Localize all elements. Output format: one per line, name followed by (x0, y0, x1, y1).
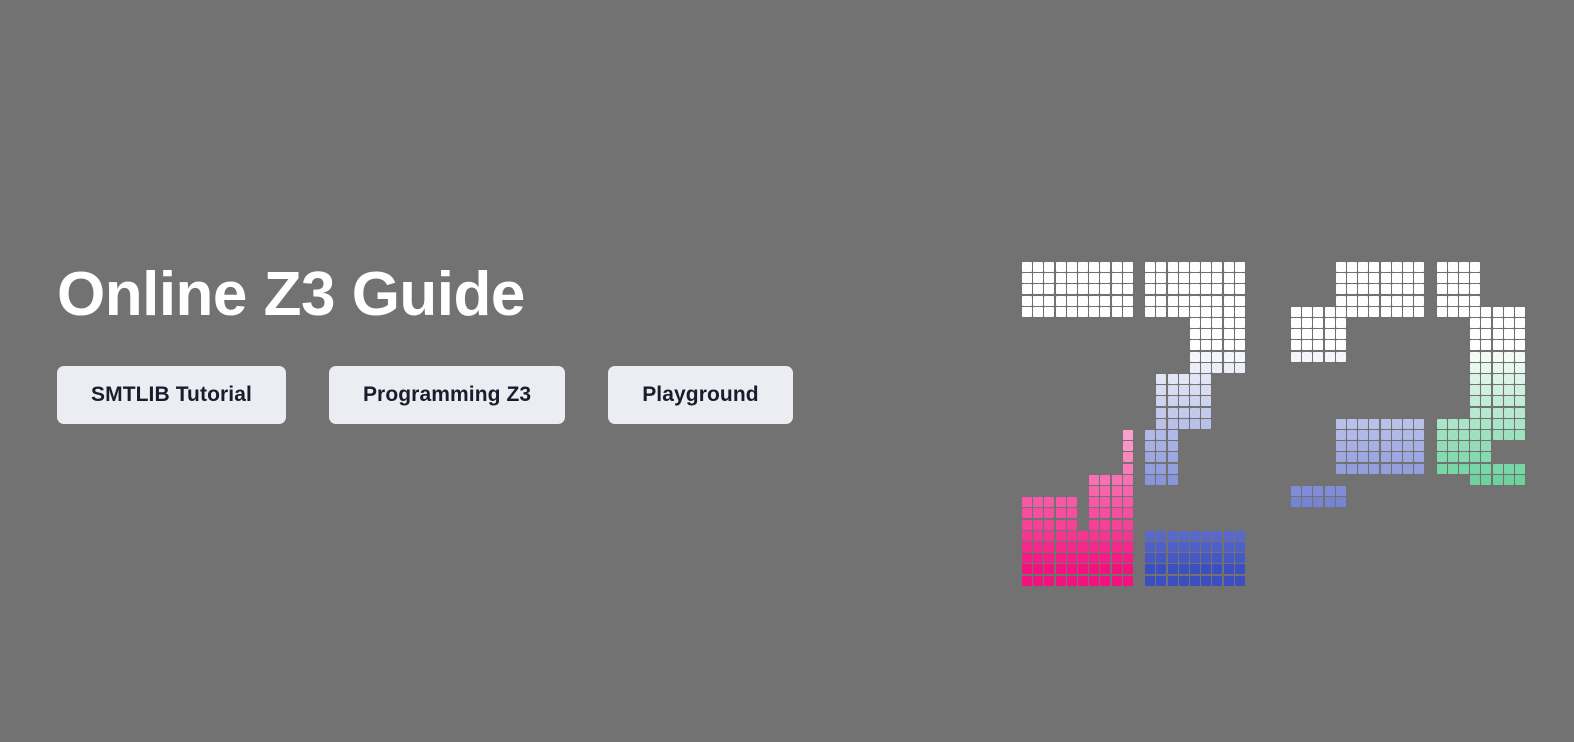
logo-cell (1470, 419, 1480, 429)
logo-cell (1168, 576, 1178, 586)
logo-cell (1156, 408, 1166, 418)
logo-cell (1425, 576, 1435, 586)
logo-cell (1425, 307, 1435, 317)
logo-cell (1291, 486, 1301, 496)
logo-cell (1044, 520, 1054, 530)
logo-cell (1134, 262, 1144, 272)
logo-cell (1134, 441, 1144, 451)
logo-cell (1145, 296, 1155, 306)
logo-cell (1381, 531, 1391, 541)
logo-cell (1459, 531, 1469, 541)
logo-cell (1459, 553, 1469, 563)
logo-cell (1134, 486, 1144, 496)
logo-cell (1078, 564, 1088, 574)
logo-cell (1022, 262, 1032, 272)
logo-cell (1235, 273, 1245, 283)
logo-cell (1100, 576, 1110, 586)
logo-cell (1201, 542, 1211, 552)
logo-cell (1448, 564, 1458, 574)
logo-cell (1504, 475, 1514, 485)
logo-cell (1336, 352, 1346, 362)
playground-button[interactable]: Playground (608, 366, 793, 424)
logo-cell (1123, 464, 1133, 474)
page-title: Online Z3 Guide (57, 256, 977, 334)
logo-cell (1515, 430, 1525, 440)
logo-cell (1033, 307, 1043, 317)
logo-cell (1033, 520, 1043, 530)
logo-cell (1302, 520, 1312, 530)
logo-cell (1190, 307, 1200, 317)
logo-cell (1381, 542, 1391, 552)
logo-cell (1347, 553, 1357, 563)
logo-cell (1470, 452, 1480, 462)
logo-cell (1504, 486, 1514, 496)
logo-cell (1156, 464, 1166, 474)
logo-cell (1145, 284, 1155, 294)
logo-cell (1067, 296, 1077, 306)
logo-cell (1515, 329, 1525, 339)
logo-cell (1168, 408, 1178, 418)
logo-cell (1470, 307, 1480, 317)
logo-cell (1325, 497, 1335, 507)
logo-cell (1481, 576, 1491, 586)
logo-cell (1403, 542, 1413, 552)
logo-cell (1403, 564, 1413, 574)
logo-cell (1123, 307, 1133, 317)
logo-cell (1347, 464, 1357, 474)
logo-cell (1369, 273, 1379, 283)
logo-cell (1325, 340, 1335, 350)
logo-cell (1325, 329, 1335, 339)
logo-cell (1100, 296, 1110, 306)
logo-cell (1325, 352, 1335, 362)
logo-cell (1403, 531, 1413, 541)
logo-cell (1112, 284, 1122, 294)
logo-cell (1201, 307, 1211, 317)
logo-cell (1437, 464, 1447, 474)
logo-cell (1403, 307, 1413, 317)
logo-cell (1179, 408, 1189, 418)
logo-cell (1448, 419, 1458, 429)
logo-cell (1022, 564, 1032, 574)
logo-cell (1179, 273, 1189, 283)
logo-cell (1190, 352, 1200, 362)
logo-cell (1134, 576, 1144, 586)
logo-cell (1481, 542, 1491, 552)
logo-cell (1515, 520, 1525, 530)
logo-cell (1156, 385, 1166, 395)
logo-cell (1414, 531, 1424, 541)
logo-cell (1201, 531, 1211, 541)
logo-cell (1481, 508, 1491, 518)
logo-cell (1425, 553, 1435, 563)
logo-cell (1381, 464, 1391, 474)
logo-cell (1504, 352, 1514, 362)
logo-cell (1470, 475, 1480, 485)
logo-cell (1504, 329, 1514, 339)
logo-cell (1022, 508, 1032, 518)
logo-cell (1056, 284, 1066, 294)
logo-cell (1470, 340, 1480, 350)
logo-cell (1224, 262, 1234, 272)
logo-cell (1201, 553, 1211, 563)
logo-cell (1212, 273, 1222, 283)
logo-cell (1392, 284, 1402, 294)
logo-cell (1156, 452, 1166, 462)
logo-cell (1358, 576, 1368, 586)
logo-cell (1459, 296, 1469, 306)
logo-cell (1235, 296, 1245, 306)
logo-cell (1100, 307, 1110, 317)
logo-cell (1448, 273, 1458, 283)
logo-cell (1112, 520, 1122, 530)
logo-cell (1112, 486, 1122, 496)
logo-cell (1168, 553, 1178, 563)
logo-cell (1056, 576, 1066, 586)
logo-cell (1291, 340, 1301, 350)
logo-cell (1100, 553, 1110, 563)
logo-cell (1470, 553, 1480, 563)
logo-cell (1044, 576, 1054, 586)
logo-cell (1392, 452, 1402, 462)
logo-cell (1212, 564, 1222, 574)
logo-cell (1212, 553, 1222, 563)
logo-cell (1145, 475, 1155, 485)
logo-cell (1425, 531, 1435, 541)
logo-cell (1224, 576, 1234, 586)
logo-cell (1403, 419, 1413, 429)
logo-cell (1168, 464, 1178, 474)
logo-cell (1212, 340, 1222, 350)
logo-cell (1414, 284, 1424, 294)
logo-cell (1302, 508, 1312, 518)
logo-cell (1100, 284, 1110, 294)
logo-cell (1123, 497, 1133, 507)
logo-cell (1235, 531, 1245, 541)
logo-cell (1168, 307, 1178, 317)
logo-cell (1347, 307, 1357, 317)
logo-cell (1179, 296, 1189, 306)
logo-cell (1481, 475, 1491, 485)
logo-cell (1134, 542, 1144, 552)
logo-cell (1414, 576, 1424, 586)
logo-cell (1156, 441, 1166, 451)
logo-cell (1033, 576, 1043, 586)
logo-cell (1358, 419, 1368, 429)
logo-cell (1123, 531, 1133, 541)
logo-cell (1302, 340, 1312, 350)
logo-cell (1179, 542, 1189, 552)
logo-cell (1493, 318, 1503, 328)
logo-cell (1347, 576, 1357, 586)
logo-cell (1123, 430, 1133, 440)
logo-cell (1437, 273, 1447, 283)
logo-cell (1190, 262, 1200, 272)
logo-cell (1493, 419, 1503, 429)
logo-cell (1459, 542, 1469, 552)
logo-cell (1190, 284, 1200, 294)
logo-cell (1325, 318, 1335, 328)
logo-cell (1437, 576, 1447, 586)
logo-cell (1134, 307, 1144, 317)
logo-cell (1022, 576, 1032, 586)
logo-cell (1515, 486, 1525, 496)
logo-cell (1123, 284, 1133, 294)
logo-cell (1459, 452, 1469, 462)
logo-cell (1089, 486, 1099, 496)
logo-cell (1358, 441, 1368, 451)
logo-cell (1481, 352, 1491, 362)
logo-cell (1425, 464, 1435, 474)
logo-cell (1470, 576, 1480, 586)
logo-cell (1470, 296, 1480, 306)
logo-cell (1100, 542, 1110, 552)
logo-cell (1067, 497, 1077, 507)
logo-cell (1448, 430, 1458, 440)
logo-cell (1168, 542, 1178, 552)
logo-cell (1403, 284, 1413, 294)
logo-cell (1504, 430, 1514, 440)
smtlib-tutorial-button[interactable]: SMTLIB Tutorial (57, 366, 286, 424)
logo-cell (1392, 273, 1402, 283)
logo-cell (1179, 307, 1189, 317)
z3-logo (1022, 262, 1522, 588)
logo-cell (1336, 564, 1346, 574)
logo-cell (1179, 419, 1189, 429)
logo-cell (1336, 262, 1346, 272)
logo-cell (1336, 296, 1346, 306)
logo-cell (1381, 296, 1391, 306)
logo-cell (1235, 284, 1245, 294)
logo-cell (1358, 273, 1368, 283)
logo-cell (1044, 564, 1054, 574)
logo-cell (1470, 273, 1480, 283)
logo-cell (1448, 284, 1458, 294)
logo-cell (1224, 307, 1234, 317)
logo-cell (1033, 262, 1043, 272)
logo-cell (1112, 508, 1122, 518)
logo-cell (1168, 273, 1178, 283)
logo-cell (1493, 475, 1503, 485)
logo-cell (1156, 307, 1166, 317)
logo-cell (1134, 508, 1144, 518)
logo-cell (1078, 542, 1088, 552)
logo-cell (1325, 486, 1335, 496)
logo-cell (1414, 430, 1424, 440)
logo-cell (1291, 329, 1301, 339)
logo-cell (1056, 520, 1066, 530)
logo-cell (1336, 307, 1346, 317)
logo-cell (1437, 531, 1447, 541)
logo-cell (1313, 318, 1323, 328)
logo-cell (1056, 508, 1066, 518)
logo-cell (1212, 262, 1222, 272)
logo-cell (1381, 452, 1391, 462)
logo-cell (1156, 262, 1166, 272)
logo-cell (1168, 564, 1178, 574)
logo-cell (1481, 464, 1491, 474)
logo-cell (1179, 553, 1189, 563)
logo-cell (1145, 441, 1155, 451)
logo-cell (1201, 576, 1211, 586)
logo-cell (1358, 452, 1368, 462)
logo-cell (1224, 340, 1234, 350)
logo-cell (1358, 564, 1368, 574)
logo-cell (1089, 307, 1099, 317)
logo-cell (1481, 430, 1491, 440)
logo-cell (1425, 419, 1435, 429)
logo-cell (1134, 464, 1144, 474)
logo-cell (1414, 262, 1424, 272)
logo-cell (1302, 486, 1312, 496)
logo-cell (1336, 497, 1346, 507)
logo-cell (1134, 531, 1144, 541)
logo-cell (1089, 296, 1099, 306)
programming-z3-button[interactable]: Programming Z3 (329, 366, 565, 424)
logo-cell (1190, 273, 1200, 283)
logo-cell (1470, 542, 1480, 552)
logo-cell (1201, 385, 1211, 395)
logo-cell (1448, 296, 1458, 306)
logo-cell (1302, 497, 1312, 507)
logo-cell (1100, 520, 1110, 530)
logo-cell (1201, 284, 1211, 294)
logo-cell (1112, 553, 1122, 563)
logo-cell (1437, 307, 1447, 317)
logo-cell (1437, 296, 1447, 306)
logo-cell (1044, 262, 1054, 272)
logo-cell (1336, 318, 1346, 328)
logo-cell (1369, 531, 1379, 541)
logo-cell (1044, 531, 1054, 541)
logo-cell (1392, 542, 1402, 552)
logo-cell (1459, 284, 1469, 294)
logo-cell (1336, 452, 1346, 462)
logo-cell (1235, 553, 1245, 563)
logo-cell (1336, 553, 1346, 563)
logo-cell (1392, 531, 1402, 541)
logo-cell (1392, 307, 1402, 317)
hero-section: Online Z3 Guide SMTLIB Tutorial Programm… (0, 0, 1574, 742)
logo-cell (1481, 363, 1491, 373)
logo-cell (1369, 441, 1379, 451)
logo-cell (1414, 419, 1424, 429)
logo-cell (1470, 329, 1480, 339)
logo-cell (1313, 486, 1323, 496)
logo-cell (1168, 441, 1178, 451)
logo-cell (1033, 542, 1043, 552)
logo-cell (1381, 553, 1391, 563)
logo-cell (1134, 296, 1144, 306)
logo-cell (1470, 363, 1480, 373)
logo-cell (1414, 553, 1424, 563)
logo-cell (1112, 273, 1122, 283)
logo-cell (1459, 262, 1469, 272)
logo-cell (1134, 430, 1144, 440)
logo-cell (1156, 531, 1166, 541)
logo-cell (1212, 542, 1222, 552)
logo-cell (1414, 296, 1424, 306)
logo-cell (1437, 553, 1447, 563)
logo-cell (1022, 553, 1032, 563)
logo-cell (1381, 564, 1391, 574)
logo-cell (1156, 430, 1166, 440)
logo-cell (1392, 464, 1402, 474)
logo-cell (1414, 441, 1424, 451)
logo-cell (1134, 553, 1144, 563)
logo-cell (1201, 374, 1211, 384)
logo-cell (1325, 531, 1335, 541)
logo-cell (1325, 307, 1335, 317)
logo-cell (1347, 430, 1357, 440)
logo-cell (1190, 385, 1200, 395)
logo-cell (1403, 262, 1413, 272)
logo-cell (1190, 296, 1200, 306)
logo-cell (1381, 441, 1391, 451)
logo-cell (1291, 520, 1301, 530)
logo-cell (1168, 430, 1178, 440)
logo-cell (1190, 329, 1200, 339)
logo-cell (1044, 284, 1054, 294)
logo-cell (1493, 329, 1503, 339)
logo-cell (1033, 564, 1043, 574)
logo-cell (1145, 430, 1155, 440)
logo-cell (1504, 497, 1514, 507)
logo-cell (1347, 296, 1357, 306)
logo-cell (1224, 531, 1234, 541)
logo-cell (1291, 307, 1301, 317)
logo-cell (1504, 531, 1514, 541)
logo-cell (1437, 419, 1447, 429)
logo-cell (1044, 497, 1054, 507)
logo-cell (1358, 307, 1368, 317)
logo-cell (1201, 419, 1211, 429)
logo-cell (1448, 553, 1458, 563)
logo-cell (1201, 296, 1211, 306)
logo-cell (1470, 385, 1480, 395)
logo-cell (1089, 262, 1099, 272)
logo-cell (1425, 284, 1435, 294)
logo-cell (1493, 508, 1503, 518)
logo-cell (1156, 296, 1166, 306)
logo-cell (1212, 318, 1222, 328)
logo-cell (1347, 531, 1357, 541)
logo-cell (1302, 352, 1312, 362)
logo-cell (1470, 374, 1480, 384)
logo-cell (1067, 520, 1077, 530)
logo-cell (1481, 553, 1491, 563)
logo-cell (1515, 508, 1525, 518)
logo-cell (1470, 284, 1480, 294)
logo-cell (1470, 441, 1480, 451)
logo-cell (1336, 542, 1346, 552)
logo-cell (1123, 486, 1133, 496)
logo-cell (1224, 553, 1234, 563)
logo-cell (1481, 307, 1491, 317)
logo-cell (1392, 296, 1402, 306)
logo-cell (1022, 531, 1032, 541)
logo-cell (1134, 497, 1144, 507)
logo-cell (1145, 452, 1155, 462)
logo-cell (1168, 531, 1178, 541)
logo-cell (1089, 520, 1099, 530)
logo-cell (1056, 307, 1066, 317)
logo-cell (1190, 374, 1200, 384)
logo-cell (1078, 296, 1088, 306)
logo-cell (1481, 385, 1491, 395)
logo-cell (1504, 307, 1514, 317)
logo-cell (1022, 307, 1032, 317)
